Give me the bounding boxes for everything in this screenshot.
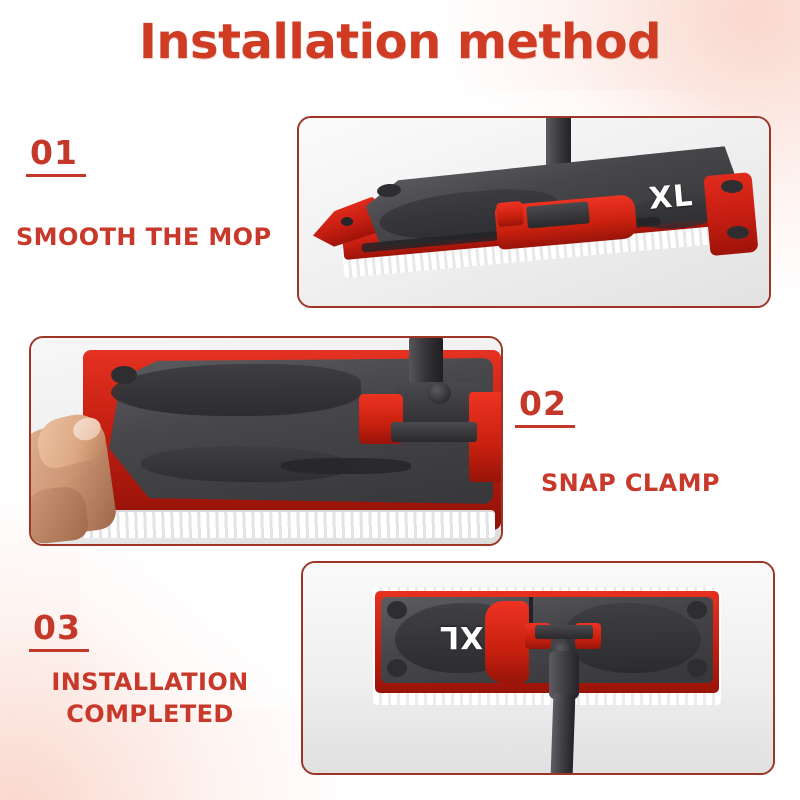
step-number-03: 03 — [33, 608, 81, 652]
step-photo-panel-03: XL — [301, 561, 775, 775]
mop-clamp-wing-left — [496, 201, 524, 227]
mop-handle — [551, 693, 576, 773]
step-caption-01: SMOOTH THE MOP — [16, 222, 271, 254]
plate-groove-arc-right — [281, 458, 411, 474]
product-photo-01: XL — [299, 118, 769, 306]
brand-mark-xl: XL — [439, 619, 483, 654]
step-caption-02: SNAP CLAMP — [541, 468, 720, 500]
microfiber-pad — [75, 510, 495, 538]
step-photo-panel-02 — [29, 336, 503, 546]
step-number-01: 01 — [30, 133, 78, 177]
step-number-02: 02 — [519, 384, 567, 428]
mop-clamp-bar — [535, 625, 593, 639]
plate-center-divider — [529, 597, 533, 625]
page-title: Installation method — [0, 14, 800, 70]
hand-knuckle — [31, 485, 90, 544]
plate-groove-sweep-top — [111, 364, 361, 416]
corner-pad-bottom-left — [387, 659, 407, 677]
product-photo-02 — [31, 338, 501, 544]
nose-pivot-hole — [341, 217, 353, 226]
product-photo-03: XL — [303, 563, 773, 773]
brand-mark-xl: XL — [648, 178, 695, 217]
mop-clamp-center — [485, 601, 529, 683]
mop-clamp-bar — [391, 422, 477, 442]
corner-pad-top-left — [111, 366, 137, 384]
corner-pad-top-right — [687, 601, 707, 619]
infographic-page: Installation method 01 SMOOTH THE MOP — [0, 0, 800, 800]
handle-pivot-screw — [427, 382, 451, 404]
corner-pad-bottom-right — [727, 226, 749, 239]
mop-handle-neck — [549, 651, 579, 699]
step-photo-panel-01: XL — [297, 116, 771, 308]
step-caption-03: INSTALLATION COMPLETED — [0, 667, 300, 730]
corner-pad-top-right — [721, 180, 743, 193]
corner-pad-bottom-right — [687, 659, 707, 677]
corner-pad-top-left — [387, 601, 407, 619]
